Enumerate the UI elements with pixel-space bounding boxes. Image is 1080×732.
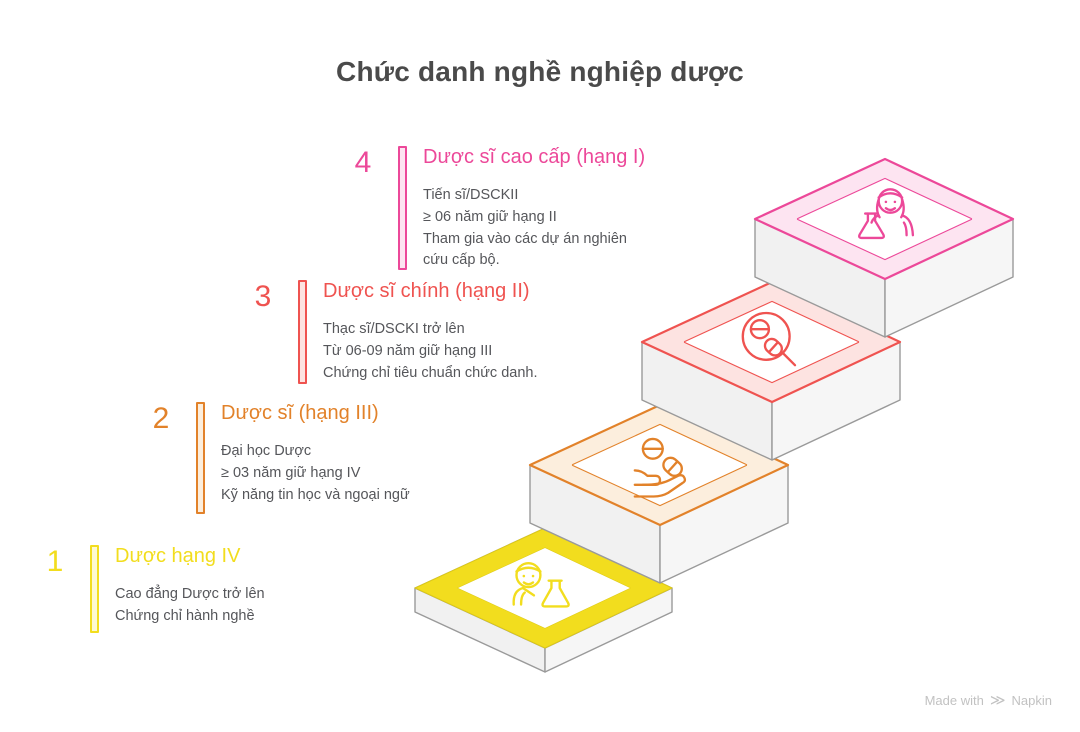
- step-block-1[interactable]: 1 Dược hạng IV Cao đẳng Dược trở lên Chứ…: [34, 545, 265, 633]
- step-block-2[interactable]: 2 Dược sĩ (hạng III) Đại học Dược ≥ 03 n…: [140, 402, 410, 514]
- step-2-top-plate: [530, 405, 788, 525]
- step-number-1: 1: [34, 545, 76, 577]
- step-body-4: Tiến sĩ/DSCKII ≥ 06 năm giữ hạng II Tham…: [423, 185, 645, 272]
- step-3-color-band: [642, 282, 900, 402]
- step-text-2: Dược sĩ (hạng III) Đại học Dược ≥ 03 năm…: [221, 402, 410, 506]
- female-pharmacist-with-flask-icon: [859, 189, 913, 238]
- step-body-3: Thạc sĩ/DSCKI trở lên Từ 06-09 năm giữ h…: [323, 319, 538, 384]
- watermark-brand: Napkin: [1012, 693, 1052, 708]
- step-accent-bar-4: [398, 146, 407, 270]
- watermark-prefix: Made with: [925, 693, 984, 708]
- step-3d-level-2: [530, 405, 788, 583]
- step-heading-2: Dược sĩ (hạng III): [221, 402, 410, 425]
- step-3-inner-field: [685, 302, 858, 382]
- step-3-top-plate: [642, 282, 900, 402]
- step-heading-4: Dược sĩ cao cấp (hạng I): [423, 146, 645, 169]
- step-3d-level-4: [755, 159, 1013, 337]
- step-text-4: Dược sĩ cao cấp (hạng I) Tiến sĩ/DSCKII …: [423, 146, 645, 272]
- step-body-2: Đại học Dược ≥ 03 năm giữ hạng IV Kỹ năn…: [221, 441, 410, 506]
- step-heading-1: Dược hạng IV: [115, 545, 265, 568]
- pharmacist-with-flask-icon: [514, 563, 569, 606]
- step-1-color-band: [415, 528, 672, 648]
- step-block-4[interactable]: 4 Dược sĩ cao cấp (hạng I) Tiến sĩ/DSCKI…: [342, 146, 645, 272]
- step-1-inner-field: [458, 548, 630, 628]
- hand-holding-pills-icon: [635, 439, 685, 497]
- page-title: Chức danh nghề nghiệp dược: [0, 56, 1080, 88]
- step-number-2: 2: [140, 402, 182, 434]
- step-accent-bar-2: [196, 402, 205, 514]
- step-2-right-face: [660, 465, 788, 583]
- step-4-right-face: [885, 219, 1013, 337]
- step-3-right-face: [772, 342, 900, 460]
- step-accent-bar-3: [298, 280, 307, 384]
- step-2-inner-field: [573, 425, 746, 505]
- step-4-left-face: [755, 219, 885, 337]
- step-2-color-band: [530, 405, 788, 525]
- step-heading-3: Dược sĩ chính (hạng II): [323, 280, 538, 303]
- step-3d-level-1: [415, 528, 672, 672]
- step-block-3[interactable]: 3 Dược sĩ chính (hạng II) Thạc sĩ/DSCKI …: [242, 280, 538, 384]
- step-1-right-face: [545, 588, 672, 672]
- infographic-canvas: Chức danh nghề nghiệp dược: [0, 0, 1080, 732]
- step-number-3: 3: [242, 280, 284, 312]
- step-2-left-face: [530, 465, 660, 583]
- step-3-left-face: [642, 342, 772, 460]
- step-4-inner-field: [798, 179, 971, 259]
- step-1-top-plate: [415, 528, 672, 648]
- step-3d-level-3: [642, 282, 900, 460]
- step-number-4: 4: [342, 146, 384, 178]
- napkin-watermark: Made with ≫ Napkin: [925, 693, 1052, 708]
- step-1-left-face: [415, 588, 545, 672]
- magnifier-over-pills-icon: [743, 313, 795, 365]
- step-4-top-plate: [755, 159, 1013, 279]
- step-body-1: Cao đẳng Dược trở lên Chứng chỉ hành ngh…: [115, 584, 265, 628]
- step-text-1: Dược hạng IV Cao đẳng Dược trở lên Chứng…: [115, 545, 265, 628]
- napkin-logo-icon: ≫: [990, 693, 1006, 708]
- step-text-3: Dược sĩ chính (hạng II) Thạc sĩ/DSCKI tr…: [323, 280, 538, 384]
- step-accent-bar-1: [90, 545, 99, 633]
- step-4-color-band: [755, 159, 1013, 279]
